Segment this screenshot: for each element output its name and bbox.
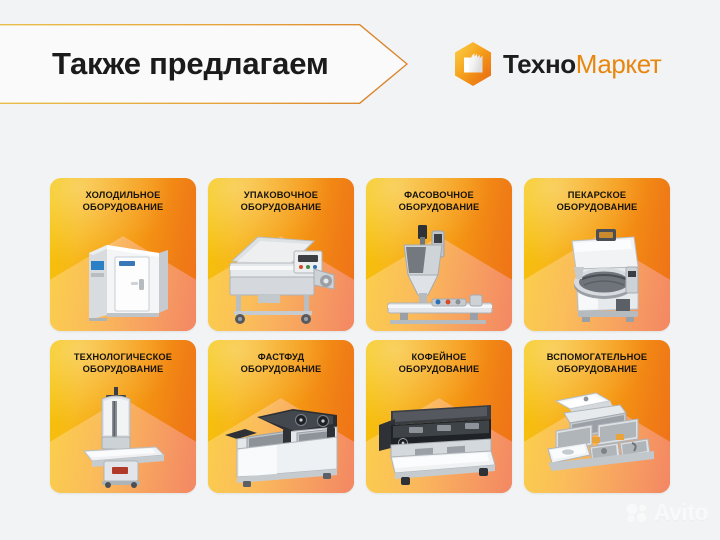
espresso-machine-icon	[366, 380, 512, 489]
filling-dosing-machine-icon	[366, 218, 512, 327]
card-title-line1: ПЕКАРСКОЕ	[530, 189, 664, 201]
card-title-line2: ОБОРУДОВАНИЕ	[214, 201, 348, 213]
brand-name: ТехноМаркет	[503, 51, 661, 77]
card-title-line2: ОБОРУДОВАНИЕ	[56, 201, 190, 213]
page-title: Также предлагаем	[52, 46, 329, 82]
technomarket-hexagon-logo-icon	[452, 41, 494, 87]
card-title: ВСПОМОГАТЕЛЬНОЕ ОБОРУДОВАНИЕ	[530, 351, 664, 376]
page-root: Также предлагаем	[0, 0, 720, 540]
card-title-line2: ОБОРУДОВАНИЕ	[214, 363, 348, 375]
category-card-auxiliary-equipment[interactable]: ВСПОМОГАТЕЛЬНОЕ ОБОРУДОВАНИЕ	[524, 340, 670, 493]
category-card-packing-equipment[interactable]: УПАКОВОЧНОЕ ОБОРУДОВАНИЕ	[208, 178, 354, 331]
card-title-line1: УПАКОВОЧНОЕ	[214, 189, 348, 201]
card-title-line1: ХОЛОДИЛЬНОЕ	[56, 189, 190, 201]
brand-name-part1: Техно	[503, 49, 576, 79]
card-title-line2: ОБОРУДОВАНИЕ	[372, 363, 506, 375]
card-title-line1: ВСПОМОГАТЕЛЬНОЕ	[530, 351, 664, 363]
card-title-line2: ОБОРУДОВАНИЕ	[530, 363, 664, 375]
category-card-technological-equipment[interactable]: ТЕХНОЛОГИЧЕСКОЕ ОБОРУДОВАНИЕ	[50, 340, 196, 493]
spiral-dough-mixer-icon	[524, 218, 670, 327]
card-title: УПАКОВОЧНОЕ ОБОРУДОВАНИЕ	[214, 189, 348, 214]
card-title-line1: ФАСОВОЧНОЕ	[372, 189, 506, 201]
card-title-line1: КОФЕЙНОЕ	[372, 351, 506, 363]
card-title-line2: ОБОРУДОВАНИЕ	[56, 363, 190, 375]
avito-watermark: Avito	[625, 501, 708, 524]
card-title: ФАСОВОЧНОЕ ОБОРУДОВАНИЕ	[372, 189, 506, 214]
card-title: ТЕХНОЛОГИЧЕСКОЕ ОБОРУДОВАНИЕ	[56, 351, 190, 376]
category-card-bakery-equipment[interactable]: ПЕКАРСКОЕ ОБОРУДОВАНИЕ	[524, 178, 670, 331]
brand-name-part2: Маркет	[576, 49, 662, 79]
header-banner: Также предлагаем	[0, 24, 448, 104]
gastronorm-pans-icon	[524, 380, 670, 489]
shrink-wrap-packer-icon	[208, 218, 354, 327]
brand-logo[interactable]: ТехноМаркет	[452, 42, 661, 86]
category-card-fastfood-equipment[interactable]: ФАСТФУД ОБОРУДОВАНИЕ	[208, 340, 354, 493]
cold-room-chamber-icon	[50, 218, 196, 327]
card-title: ПЕКАРСКОЕ ОБОРУДОВАНИЕ	[530, 189, 664, 214]
card-title-line2: ОБОРУДОВАНИЕ	[372, 201, 506, 213]
category-card-cold-equipment[interactable]: ХОЛОДИЛЬНОЕ ОБОРУДОВАНИЕ	[50, 178, 196, 331]
card-title: ХОЛОДИЛЬНОЕ ОБОРУДОВАНИЕ	[56, 189, 190, 214]
avito-dots-icon	[625, 503, 649, 523]
card-title: КОФЕЙНОЕ ОБОРУДОВАНИЕ	[372, 351, 506, 376]
category-grid: ХОЛОДИЛЬНОЕ ОБОРУДОВАНИЕ	[50, 178, 670, 493]
category-card-filling-equipment[interactable]: ФАСОВОЧНОЕ ОБОРУДОВАНИЕ	[366, 178, 512, 331]
card-title: ФАСТФУД ОБОРУДОВАНИЕ	[214, 351, 348, 376]
card-title-line2: ОБОРУДОВАНИЕ	[530, 201, 664, 213]
band-saw-icon	[50, 380, 196, 489]
avito-wordmark: Avito	[654, 501, 708, 524]
category-card-coffee-equipment[interactable]: КОФЕЙНОЕ ОБОРУДОВАНИЕ	[366, 340, 512, 493]
card-title-line1: ФАСТФУД	[214, 351, 348, 363]
card-title-line1: ТЕХНОЛОГИЧЕСКОЕ	[56, 351, 190, 363]
double-deep-fryer-icon	[208, 380, 354, 489]
